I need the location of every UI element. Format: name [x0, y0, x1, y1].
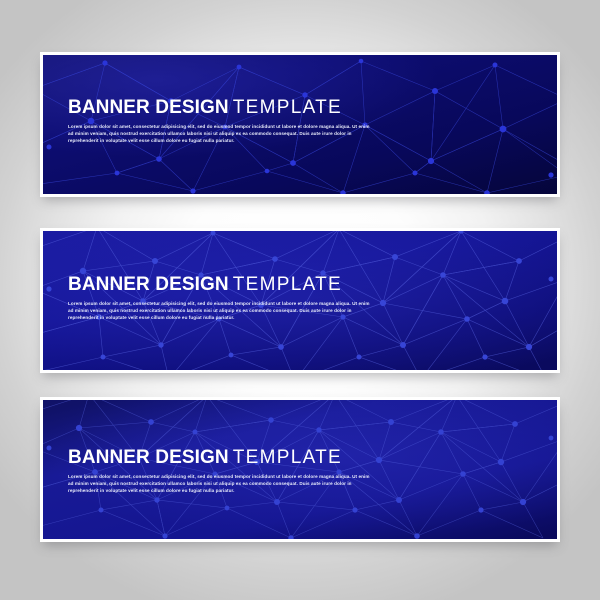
headline-strong-1: BANNER DESIGN	[68, 97, 229, 118]
banner-artwork-1: BANNER DESIGNTEMPLATE Lorem ipsum dolor …	[43, 55, 557, 194]
banner-card-3[interactable]: BANNER DESIGNTEMPLATE Lorem ipsum dolor …	[40, 397, 560, 542]
headline-light-3: TEMPLATE	[233, 447, 342, 468]
banner-paragraph-3: Lorem ipsum dolor sit amet, consectetur …	[68, 473, 370, 495]
page-canvas: BANNER DESIGNTEMPLATE Lorem ipsum dolor …	[0, 0, 600, 600]
headline-light-1: TEMPLATE	[233, 97, 342, 118]
banner-paragraph-2: Lorem ipsum dolor sit amet, consectetur …	[68, 300, 370, 322]
banner-headline-3: BANNER DESIGNTEMPLATE	[68, 448, 370, 467]
banner-copy-1: BANNER DESIGNTEMPLATE Lorem ipsum dolor …	[68, 98, 370, 145]
headline-strong-3: BANNER DESIGN	[68, 447, 229, 468]
banner-headline-2: BANNER DESIGNTEMPLATE	[68, 275, 370, 294]
banner-artwork-2: BANNER DESIGNTEMPLATE Lorem ipsum dolor …	[43, 231, 557, 370]
banner-card-2[interactable]: BANNER DESIGNTEMPLATE Lorem ipsum dolor …	[40, 228, 560, 373]
banner-card-1[interactable]: BANNER DESIGNTEMPLATE Lorem ipsum dolor …	[40, 52, 560, 197]
banner-paragraph-1: Lorem ipsum dolor sit amet, consectetur …	[68, 123, 370, 145]
headline-light-2: TEMPLATE	[233, 274, 342, 295]
banner-headline-1: BANNER DESIGNTEMPLATE	[68, 98, 370, 117]
banner-artwork-3: BANNER DESIGNTEMPLATE Lorem ipsum dolor …	[43, 400, 557, 539]
headline-strong-2: BANNER DESIGN	[68, 274, 229, 295]
banner-copy-3: BANNER DESIGNTEMPLATE Lorem ipsum dolor …	[68, 448, 370, 495]
banner-copy-2: BANNER DESIGNTEMPLATE Lorem ipsum dolor …	[68, 275, 370, 322]
